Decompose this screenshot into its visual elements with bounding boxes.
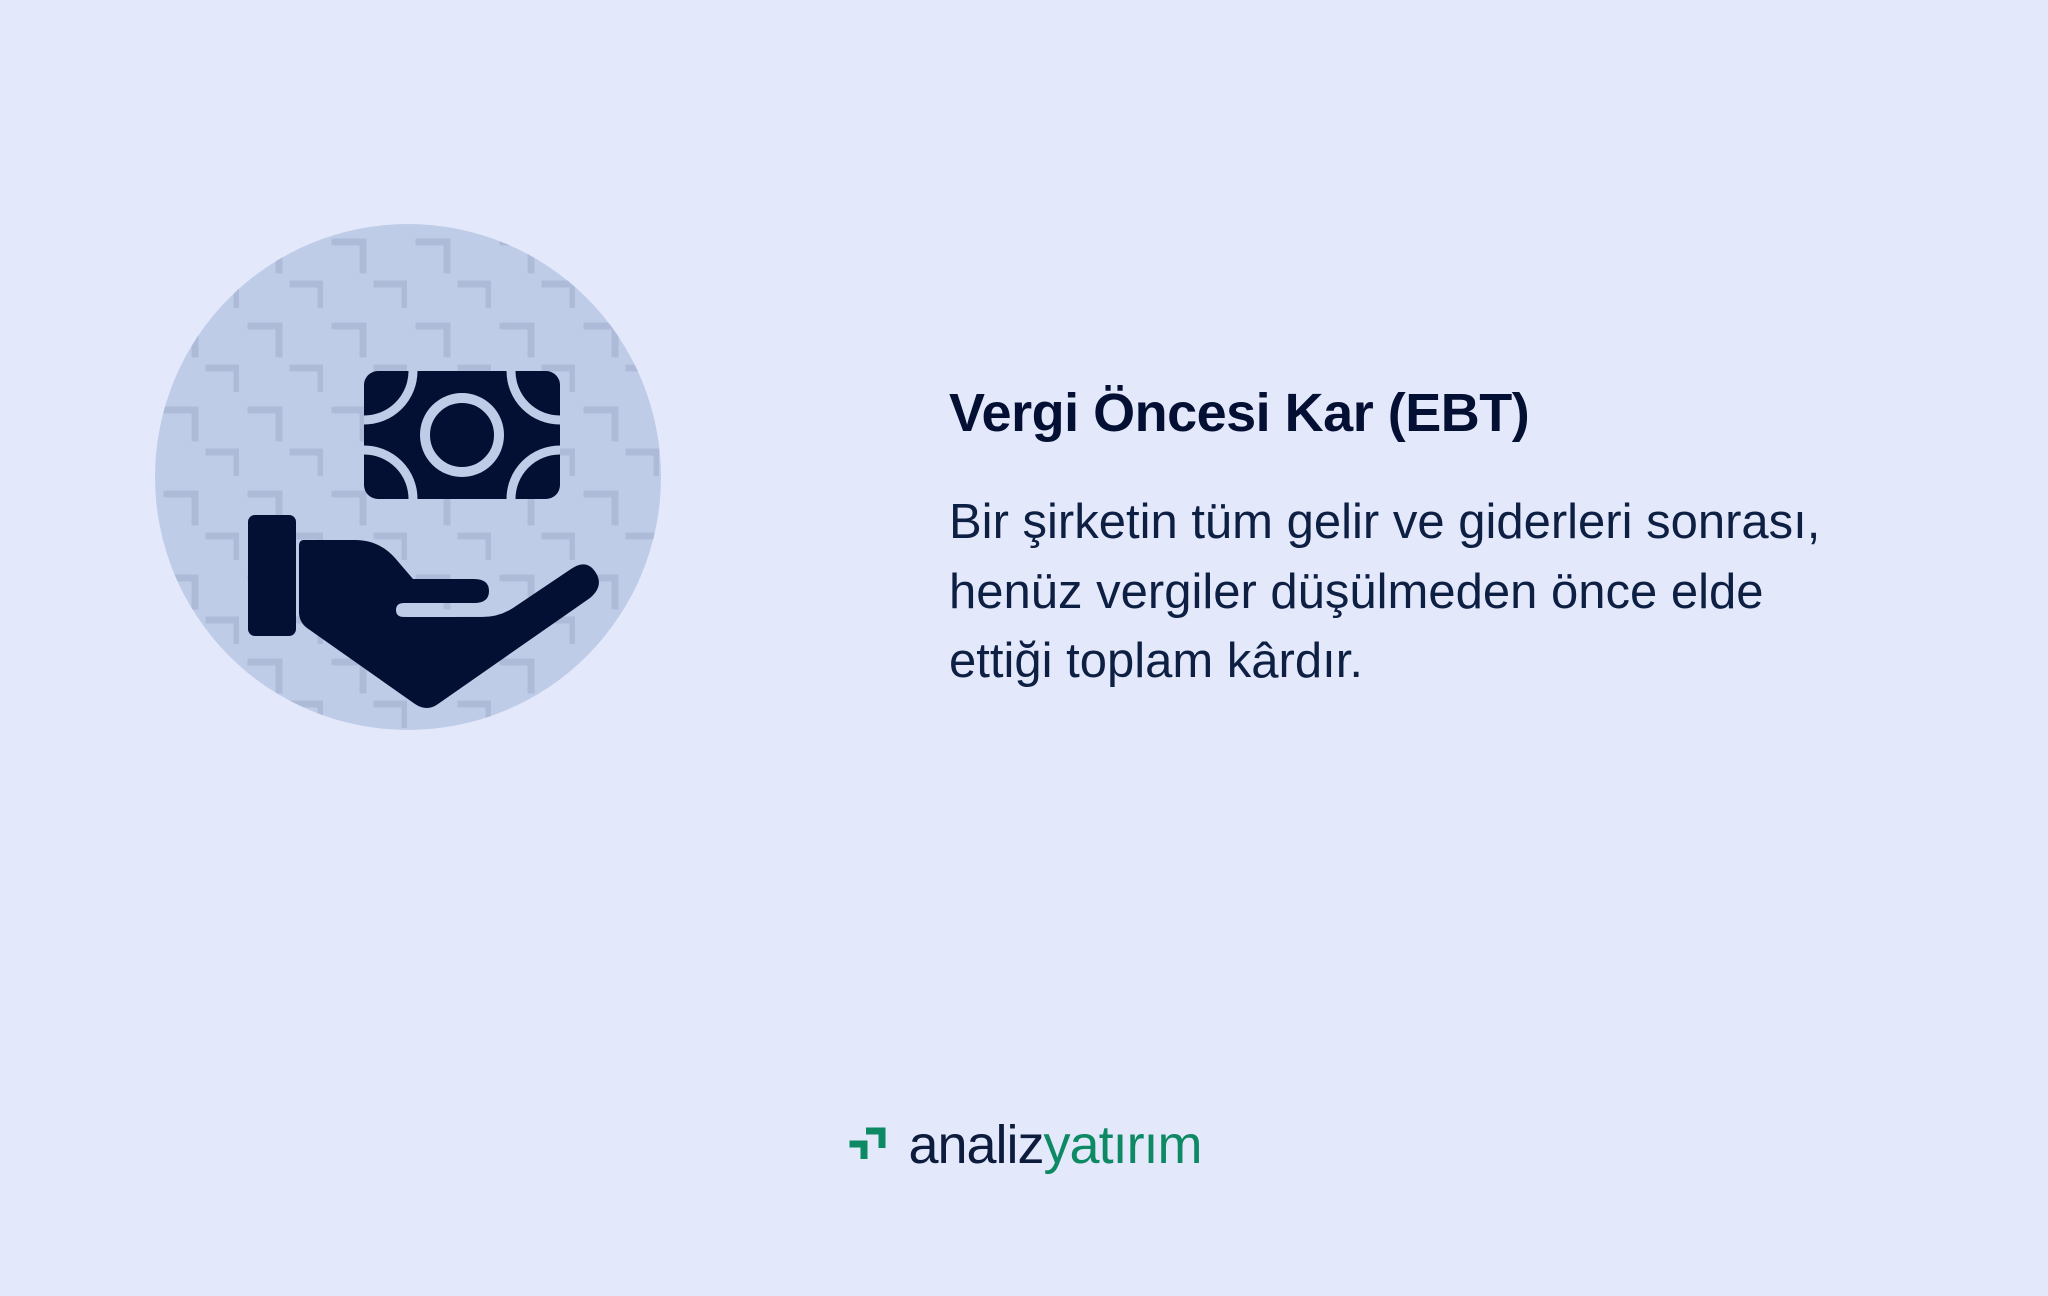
- description-text: Bir şirketin tüm gelir ve giderleri sonr…: [949, 444, 1869, 697]
- brand-logo[interactable]: analizyatırım: [0, 1118, 2048, 1172]
- page-title: Vergi Öncesi Kar (EBT): [949, 382, 1909, 444]
- brand-wordmark: analizyatırım: [908, 1118, 1201, 1172]
- brand-word-analiz: analiz: [908, 1115, 1043, 1175]
- illustration: [155, 224, 661, 730]
- money-in-hand-icon: [155, 224, 661, 730]
- text-block: Vergi Öncesi Kar (EBT) Bir şirketin tüm …: [949, 382, 1909, 697]
- brand-word-yatirim: yatırım: [1044, 1115, 1202, 1175]
- info-card: Vergi Öncesi Kar (EBT) Bir şirketin tüm …: [0, 0, 2048, 1296]
- analizyatirim-logo-mark: [846, 1124, 888, 1166]
